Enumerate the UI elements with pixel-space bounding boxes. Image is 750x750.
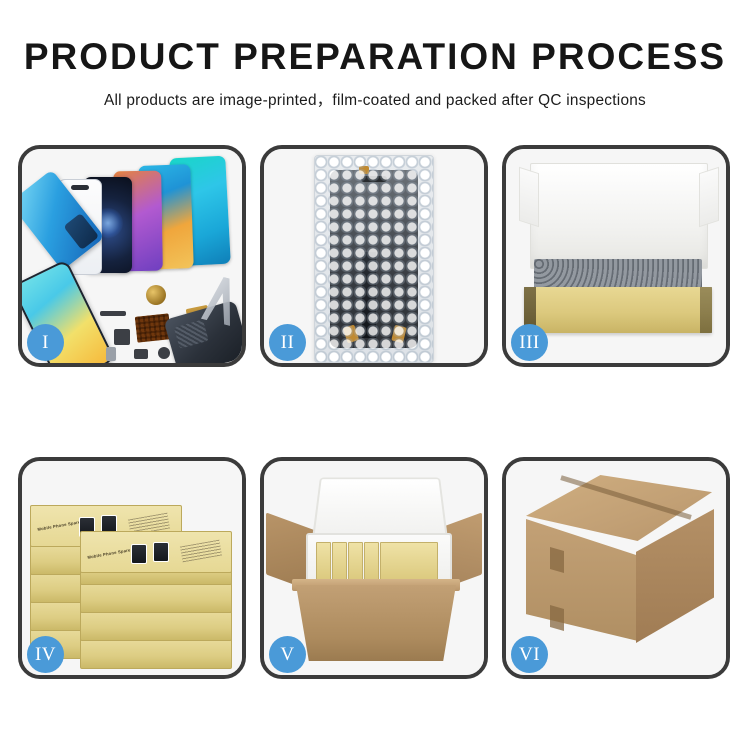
inner-box-lid (530, 163, 708, 269)
bubble-wrap-bag (314, 155, 434, 363)
step-badge-1: I (27, 324, 64, 361)
stacked-box (80, 637, 232, 669)
step-badge-2: II (269, 324, 306, 361)
process-steps-grid: I II III (18, 145, 734, 679)
stacked-box-top-right: Mobile Phone Spare Parts (80, 531, 232, 573)
page-subtitle: All products are image-printed，film-coat… (0, 88, 750, 110)
box-spec-lines (180, 540, 222, 563)
kraft-box-stack: Mobile Phone Spare Parts Mobile Phone Sp… (30, 477, 242, 667)
step-panel-1: I (18, 145, 246, 367)
box-artwork-swatch (131, 544, 147, 564)
step-badge-4: IV (27, 636, 64, 673)
step-panel-2: II (260, 145, 488, 367)
vibrator-part-icon (158, 347, 170, 359)
camera-module-part-icon (114, 329, 130, 345)
step-badge-5: V (269, 636, 306, 673)
bubble-texture-overlay (315, 156, 433, 362)
header: PRODUCT PREPARATION PROCESS All products… (0, 0, 750, 110)
shipping-carton-body (296, 585, 456, 661)
step-badge-6: VI (511, 636, 548, 673)
step-panel-4: Mobile Phone Spare Parts Mobile Phone Sp… (18, 457, 246, 679)
product-preparation-infographic: PRODUCT PREPARATION PROCESS All products… (0, 0, 750, 750)
step-panel-6: VI (502, 457, 730, 679)
box-artwork-swatch (153, 542, 169, 562)
carton-tape-lower (550, 605, 564, 631)
step-badge-3: III (511, 324, 548, 361)
sim-tray-part-icon (106, 347, 116, 361)
step-panel-3: III (502, 145, 730, 367)
inner-box-base (524, 287, 712, 333)
flex-cable-part-icon (100, 311, 126, 316)
step-panel-5: V (260, 457, 488, 679)
page-title: PRODUCT PREPARATION PROCESS (0, 38, 750, 77)
stacked-box (80, 609, 232, 641)
carton-tape-upper (550, 547, 564, 573)
speaker-part-icon (146, 285, 166, 305)
stacked-box (80, 581, 232, 613)
bracket-part-icon (134, 349, 148, 359)
